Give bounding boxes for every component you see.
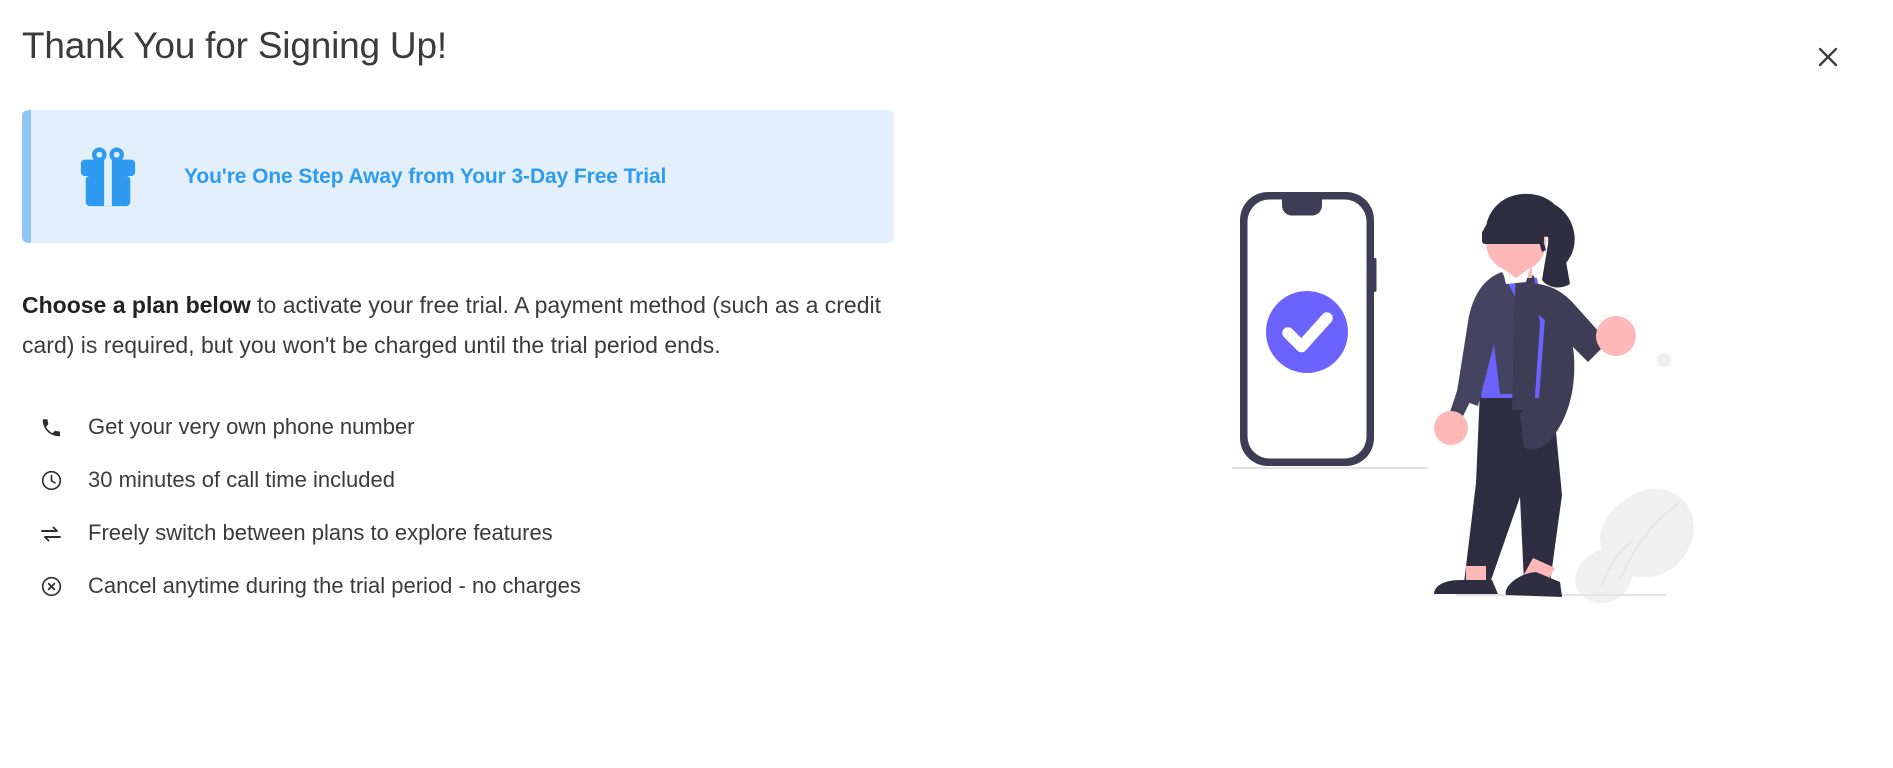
gift-icon — [77, 146, 139, 208]
banner-accent-bar — [22, 110, 31, 243]
page-title: Thank You for Signing Up! — [22, 24, 447, 68]
banner-text: You're One Step Away from Your 3-Day Fre… — [184, 165, 666, 189]
list-item-label: 30 minutes of call time included — [88, 467, 395, 493]
swap-arrows-icon — [36, 521, 66, 547]
clock-icon — [36, 468, 66, 494]
list-item-label: Freely switch between plans to explore f… — [88, 520, 553, 546]
hand-lower — [1434, 411, 1468, 445]
intro-bold-lead: Choose a plan below — [22, 292, 251, 318]
shoe-back — [1434, 580, 1498, 594]
list-item: Get your very own phone number — [22, 401, 902, 454]
success-celebration-illustration — [1230, 180, 1750, 640]
shoe-front — [1506, 572, 1562, 597]
close-icon — [1815, 44, 1841, 70]
modal-left-column: You're One Step Away from Your 3-Day Fre… — [22, 110, 902, 613]
cancel-circle-icon — [36, 574, 66, 600]
close-button[interactable] — [1807, 36, 1849, 78]
feature-list: Get your very own phone number 30 minute… — [22, 401, 902, 613]
intro-paragraph: Choose a plan below to activate your fre… — [22, 285, 902, 365]
list-item: 30 minutes of call time included — [22, 454, 902, 507]
hand-raised — [1596, 316, 1636, 356]
decorative-dot — [1657, 353, 1671, 367]
leaf-shape — [1575, 489, 1694, 603]
phone-mockup — [1240, 192, 1377, 466]
list-item: Cancel anytime during the trial period -… — [22, 560, 902, 613]
free-trial-banner: You're One Step Away from Your 3-Day Fre… — [22, 110, 894, 243]
phone-icon — [36, 415, 66, 441]
list-item-label: Cancel anytime during the trial period -… — [88, 573, 581, 599]
list-item-label: Get your very own phone number — [88, 414, 415, 440]
list-item: Freely switch between plans to explore f… — [22, 507, 902, 560]
signup-thank-you-modal: Thank You for Signing Up! — [0, 0, 1893, 768]
